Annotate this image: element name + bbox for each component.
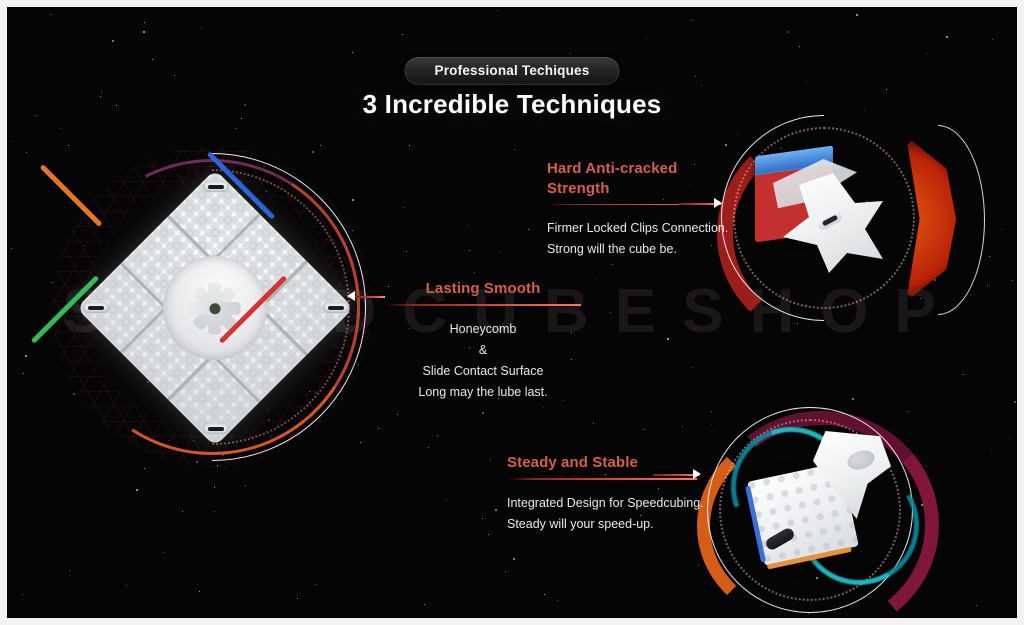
cube-image-left <box>65 155 365 461</box>
feature-title-line: Steady and Stable <box>507 453 697 473</box>
page-title: 3 Incredible Techniques <box>363 89 662 120</box>
feature-body-line: Honeycomb <box>385 319 581 340</box>
feature-title-line: Strength <box>547 179 727 199</box>
circle-image-bottom-right <box>707 407 913 613</box>
feature-body-line: Integrated Design for Speedcubing. <box>507 493 697 514</box>
promo-banner: SPEEDCUBESHOP Professional Techiques 3 I… <box>0 0 1024 625</box>
banner-canvas: SPEEDCUBESHOP Professional Techiques 3 I… <box>7 7 1017 618</box>
feature-hard-anti-cracked-strength: Hard Anti-cracked Strength Firmer Locked… <box>547 159 727 260</box>
feature-title-line: Lasting Smooth <box>385 279 581 299</box>
feature-body-line: & <box>385 340 581 361</box>
feature-lasting-smooth: Lasting Smooth Honeycomb & Slide Contact… <box>385 279 581 403</box>
magnet-cap <box>203 423 229 434</box>
feature-title: Lasting Smooth <box>385 279 581 299</box>
cube-body <box>76 169 353 446</box>
feature-title-line: Hard Anti-cracked <box>547 159 727 179</box>
feature-body-line: Long may the lube last. <box>385 382 581 403</box>
feature-body-line: Firmer Locked Clips Connection. <box>547 218 727 239</box>
connector-pointer-1 <box>714 198 722 208</box>
feature-underline <box>507 478 697 480</box>
feature-underline <box>385 304 581 306</box>
feature-title: Hard Anti-cracked Strength <box>547 159 727 199</box>
feature-body-line: Strong will the cube be. <box>547 239 727 260</box>
badge-professional-techniques: Professional Techiques <box>405 57 620 85</box>
connector-pointer-3 <box>693 469 701 479</box>
magnet-cap <box>83 302 109 313</box>
feature-body-line: Slide Contact Surface <box>385 361 581 382</box>
circle-image-top-right <box>721 115 927 321</box>
feature-title: Steady and Stable <box>507 453 697 473</box>
feature-body-line: Steady will your speed-up. <box>507 514 697 535</box>
connector-line-2 <box>355 296 385 298</box>
magnet-cap <box>203 181 229 192</box>
feature-steady-and-stable: Steady and Stable Integrated Design for … <box>507 453 697 535</box>
feature-body: Firmer Locked Clips Connection. Strong w… <box>547 218 727 260</box>
connector-pointer-2 <box>347 291 355 301</box>
magnet-cap <box>323 302 349 313</box>
feature-body: Integrated Design for Speedcubing. Stead… <box>507 493 697 535</box>
feature-body: Honeycomb & Slide Contact Surface Long m… <box>385 319 581 403</box>
